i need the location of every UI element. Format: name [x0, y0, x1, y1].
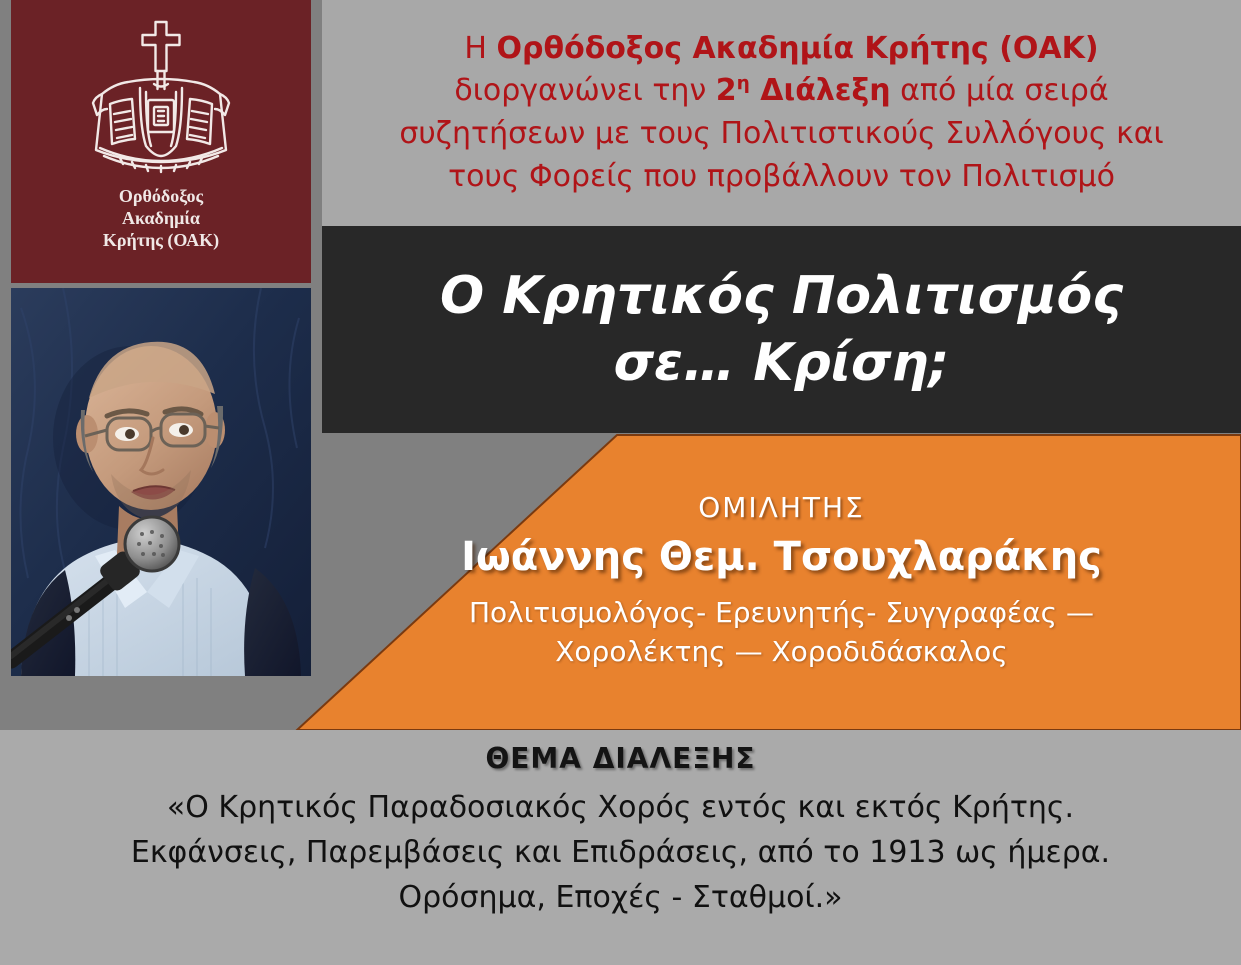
header-line-1-bold: Ορθόδοξος Ακαδημία Κρήτης (ΟΑΚ)	[497, 31, 1099, 66]
topic-line-2: Εκφάνσεις, Παρεμβάσεις και Επιδράσεις, α…	[131, 830, 1110, 875]
header-line-2-c: από μία σειρά	[891, 73, 1109, 108]
lecture-topic-block: ΘΕΜΑ ΔΙΑΛΕΞΗΣ «Ο Κρητικός Παραδοσιακός Χ…	[0, 730, 1241, 965]
speaker-info: ΟΜΙΛΗΤΗΣ Ιωάννης Θεμ. Τσουχλαράκης Πολιτ…	[322, 433, 1241, 730]
header-line-2-a: διοργανώνει την	[454, 73, 715, 108]
organization-logo-panel: Ορθόδοξος Ακαδημία Κρήτης (ΟΑΚ)	[11, 0, 311, 283]
speaker-credentials-line-1: Πολιτισμολόγος- Ερευνητής- Συγγραφέας —	[469, 594, 1094, 633]
header-line-3: συζητήσεων με τους Πολιτιστικούς Συλλόγο…	[399, 113, 1163, 156]
event-poster: Ορθόδοξος Ακαδημία Κρήτης (ΟΑΚ)	[0, 0, 1241, 965]
speaker-name: Ιωάννης Θεμ. Τσουχλαράκης	[461, 534, 1102, 580]
header-line-2: διοργανώνει την 2η Διάλεξη από μία σειρά	[454, 70, 1108, 113]
lecture-title-line-1: Ο Κρητικός Πολιτισμός	[440, 263, 1123, 330]
organization-name: Ορθόδοξος Ακαδημία Κρήτης (ΟΑΚ)	[103, 186, 219, 252]
header-line-2-b: Διάλεξη	[750, 73, 891, 108]
header-lecture-ordinal-suffix: η	[737, 73, 750, 94]
header-lecture-number: 2	[716, 73, 737, 108]
header-line-1-prefix: Η	[464, 31, 496, 66]
speaker-role-label: ΟΜΙΛΗΤΗΣ	[698, 491, 865, 524]
orthodox-mitre-cross-emblem	[76, 12, 246, 184]
logo-line-3: Κρήτης (ΟΑΚ)	[103, 230, 219, 252]
topic-line-1: «Ο Κρητικός Παραδοσιακός Χορός εντός και…	[167, 785, 1074, 830]
header-line-4: τους Φορείς που προβάλλουν τον Πολιτισμό	[448, 156, 1115, 199]
lecture-title-line-2: σε… Κρίση;	[614, 330, 950, 397]
topic-line-3: Ορόσημα, Εποχές - Σταθμοί.»	[398, 875, 842, 920]
logo-line-1: Ορθόδοξος	[103, 186, 219, 208]
topic-heading: ΘΕΜΑ ΔΙΑΛΕΞΗΣ	[485, 742, 755, 775]
header-line-1: Η Ορθόδοξος Ακαδημία Κρήτης (ΟΑΚ)	[464, 28, 1098, 71]
poster-header: Η Ορθόδοξος Ακαδημία Κρήτης (ΟΑΚ) διοργα…	[322, 0, 1241, 226]
speaker-credentials-line-2: Χορολέκτης — Χοροδιδάσκαλος	[555, 633, 1008, 672]
logo-line-2: Ακαδημία	[103, 208, 219, 230]
lecture-title-panel: Ο Κρητικός Πολιτισμός σε… Κρίση;	[322, 226, 1241, 433]
speaker-band: ΟΜΙΛΗΤΗΣ Ιωάννης Θεμ. Τσουχλαράκης Πολιτ…	[0, 433, 1241, 730]
